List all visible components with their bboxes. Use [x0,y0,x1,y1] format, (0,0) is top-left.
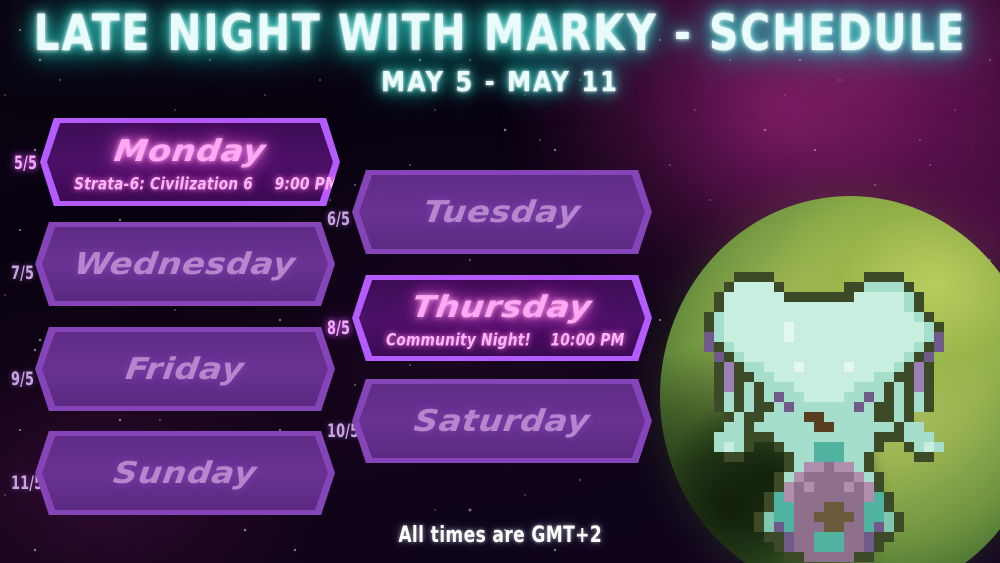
day-name-label: Tuesday [370,195,635,230]
timezone-note: All times are GMT+2 [398,522,602,548]
event-time: 10:00 PM [550,329,624,350]
card-content: ThursdayCommunity Night!10:00 PM [352,275,652,361]
card-content: MondayStrata-6: Civilization 69:00 PM [40,118,340,206]
day-card-monday[interactable]: MondayStrata-6: Civilization 69:00 PM [40,118,340,206]
day-card-thursday[interactable]: ThursdayCommunity Night!10:00 PM [352,275,652,361]
date-label-thursday: 8/5 [327,317,350,339]
page-title: LATE NIGHT WITH MARKY - SCHEDULE [15,4,985,62]
day-card-sunday[interactable]: Sunday [35,431,335,515]
header: LATE NIGHT WITH MARKY - SCHEDULE MAY 5 -… [0,0,1000,96]
day-name-label: Sunday [53,456,318,491]
date-label-tuesday: 6/5 [327,208,350,230]
event-row: Community Night!10:00 PM [386,331,618,349]
day-name-label: Friday [53,352,318,387]
day-card-friday[interactable]: Friday [35,327,335,411]
day-name-label: Monday [58,134,323,169]
card-content: Saturday [352,379,652,463]
card-content: Wednesday [35,222,335,306]
event-time: 9:00 PM [274,173,338,194]
card-content: Friday [35,327,335,411]
date-label-friday: 9/5 [11,368,34,390]
card-content: Sunday [35,431,335,515]
footer: All times are GMT+2 [0,524,1000,546]
date-range-subtitle: MAY 5 - MAY 11 [15,65,985,97]
event-title: Strata-6: Civilization 6 [74,173,253,194]
day-name-label: Saturday [370,404,635,439]
date-label-monday: 5/5 [14,152,37,174]
event-row: Strata-6: Civilization 69:00 PM [74,175,306,193]
card-content: Tuesday [352,170,652,254]
schedule-graphic: LATE NIGHT WITH MARKY - SCHEDULE MAY 5 -… [0,0,1000,563]
day-card-wednesday[interactable]: Wednesday [35,222,335,306]
event-title: Community Night! [386,329,531,350]
day-card-tuesday[interactable]: Tuesday [352,170,652,254]
day-name-label: Wednesday [53,247,318,282]
date-label-wednesday: 7/5 [11,262,34,284]
day-name-label: Thursday [370,290,635,325]
day-card-saturday[interactable]: Saturday [352,379,652,463]
